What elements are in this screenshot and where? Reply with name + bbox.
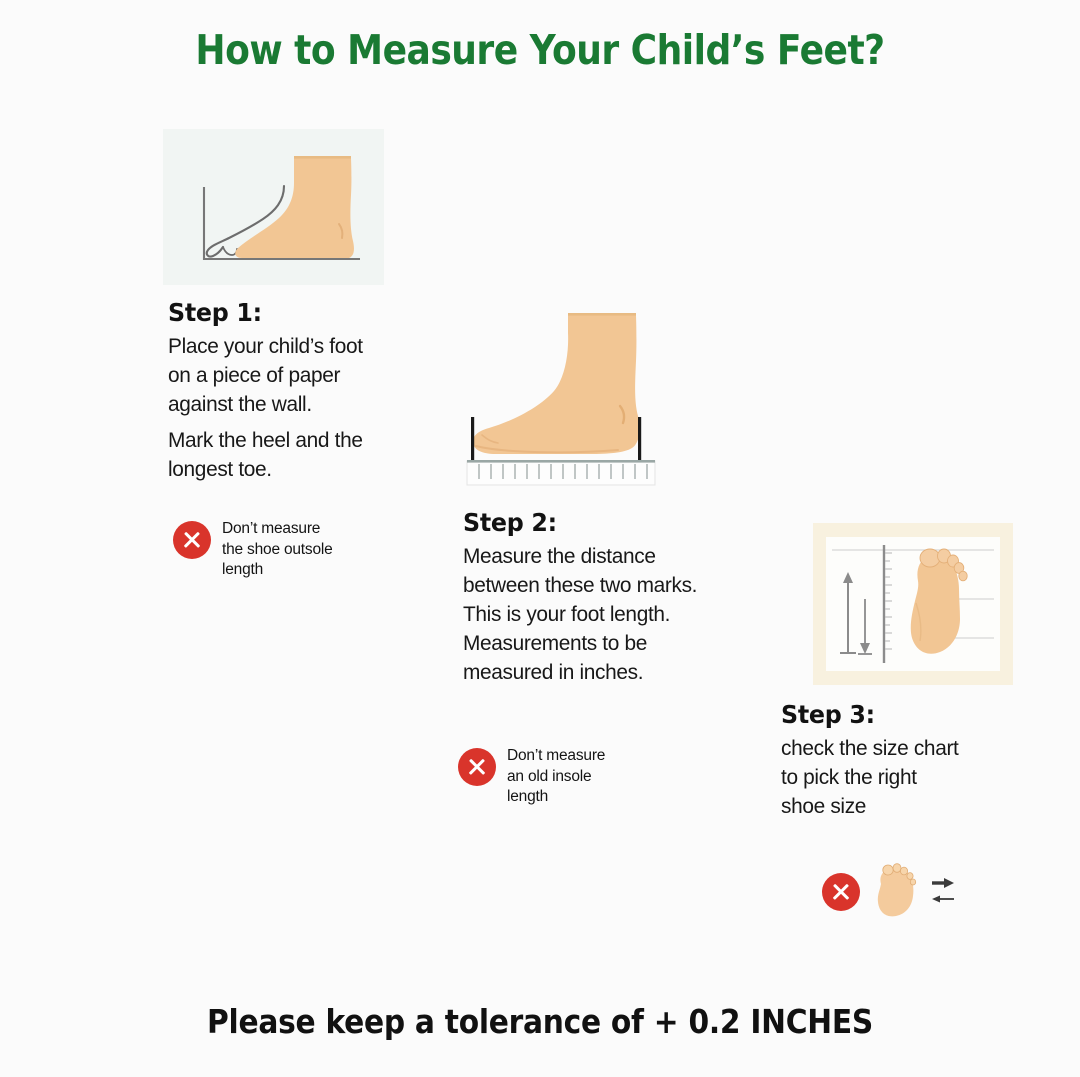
red-x-circle-icon (173, 521, 211, 559)
foot-top-view-icon (872, 862, 918, 920)
red-x-circle-icon (458, 748, 496, 786)
step-3-body: check the size chart to pick the right s… (781, 734, 1024, 821)
step-1-warning-text: Don’t measure the shoe outsole length (222, 519, 333, 581)
tolerance-note: Please keep a tolerance of + 0.2 INCHES (54, 1002, 1026, 1041)
step-1-paragraph-1: Place your child’s foot on a piece of pa… (168, 332, 411, 419)
step-1-block: Step 1: Place your child’s foot on a pie… (168, 298, 418, 484)
step-1-paragraph-2: Mark the heel and the longest toe. (168, 426, 411, 484)
step3-illustration-size-chart (813, 523, 1013, 685)
step-1-warning: Don’t measure the shoe outsole length (173, 519, 333, 581)
step-2-paragraph-1: Measure the distance between these two m… (463, 542, 783, 687)
step-3-paragraph-1: check the size chart to pick the right s… (781, 734, 1024, 821)
step-2-block: Step 2: Measure the distance between the… (463, 508, 793, 687)
step-1-heading: Step 1: (168, 298, 406, 327)
step-1-body: Place your child’s foot on a piece of pa… (168, 332, 411, 484)
step-3-warning (822, 862, 956, 920)
step-3-heading: Step 3: (781, 700, 1019, 729)
step-2-warning-text: Don’t measure an old insole length (507, 746, 605, 808)
toe-measure-mark (471, 417, 474, 461)
step-2-heading: Step 2: (463, 508, 777, 537)
step1-illustration-foot-against-wall (163, 129, 384, 285)
step-2-body: Measure the distance between these two m… (463, 542, 783, 687)
red-x-circle-icon (822, 873, 860, 911)
step2-illustration-foot-on-ruler (458, 303, 683, 490)
step-3-block: Step 3: check the size chart to pick the… (781, 700, 1031, 821)
heel-measure-mark (638, 417, 641, 461)
step-2-warning: Don’t measure an old insole length (458, 746, 605, 808)
width-arrows-icon (930, 870, 956, 912)
page-title: How to Measure Your Child’s Feet? (65, 26, 1015, 74)
